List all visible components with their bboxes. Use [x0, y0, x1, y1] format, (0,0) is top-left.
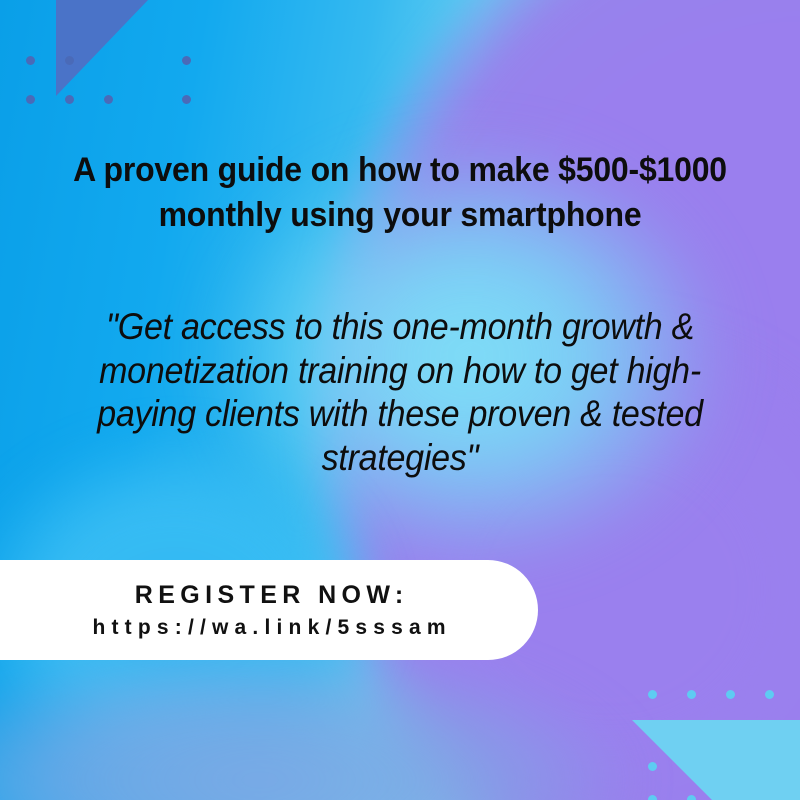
dot-decoration	[648, 690, 657, 699]
promo-poster: A proven guide on how to make $500-$1000…	[0, 0, 800, 800]
dot-decoration	[687, 690, 696, 699]
dot-decoration	[104, 95, 113, 104]
register-link[interactable]: https://wa.link/5sssam	[86, 617, 452, 638]
triangle-bottom-right-icon	[632, 720, 800, 800]
page-title: A proven guide on how to make $500-$1000…	[62, 148, 739, 238]
dot-decoration	[648, 795, 657, 800]
dot-decoration	[765, 690, 774, 699]
dot-decoration	[648, 762, 657, 771]
register-cta-banner[interactable]: REGISTER NOW: https://wa.link/5sssam	[0, 560, 538, 660]
quote-text: "Get access to this one-month growth & m…	[87, 305, 713, 480]
bottom-wash-shape	[0, 640, 640, 800]
triangle-top-left-icon	[56, 0, 148, 96]
register-now-label: REGISTER NOW:	[129, 583, 408, 608]
dot-decoration	[182, 95, 191, 104]
dot-decoration	[26, 95, 35, 104]
dot-decoration	[65, 95, 74, 104]
dot-decoration	[726, 690, 735, 699]
dot-decoration	[182, 56, 191, 65]
dot-decoration	[65, 56, 74, 65]
dot-decoration	[687, 795, 696, 800]
dot-decoration	[26, 56, 35, 65]
